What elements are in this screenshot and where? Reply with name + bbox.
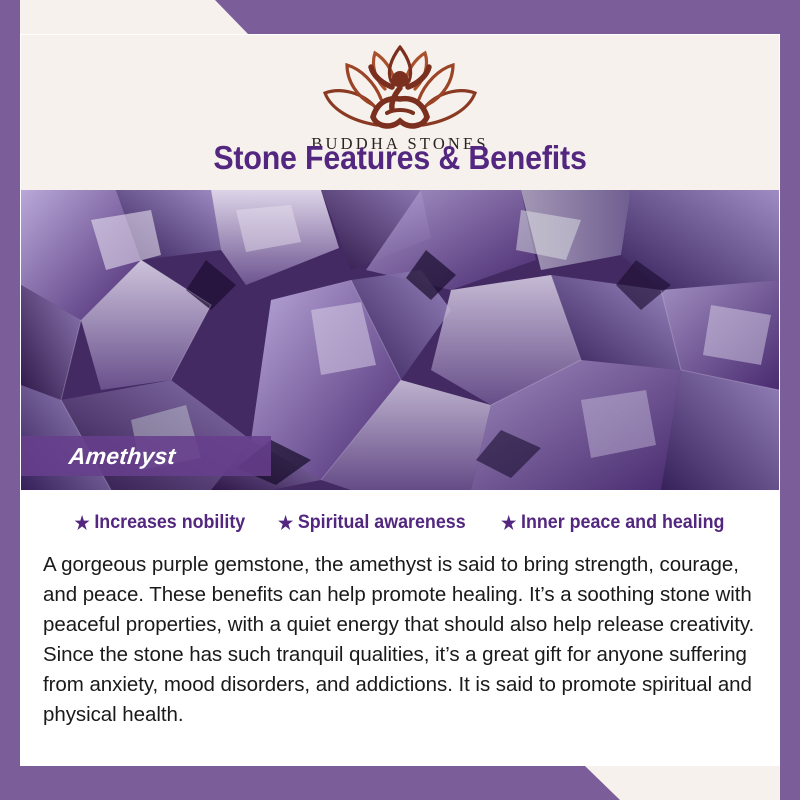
infographic-page: BUDDHA STONES Stone Features & Benefits — [0, 0, 800, 800]
brand-logo: BUDDHA STONES — [311, 41, 488, 154]
benefit-item: ★ Increases nobility — [74, 512, 245, 534]
benefit-label: Spiritual awareness — [298, 512, 466, 534]
hero-image: Amethyst — [21, 190, 779, 490]
frame-band-top — [0, 0, 800, 34]
stone-description: A gorgeous purple gemstone, the amethyst… — [39, 550, 761, 730]
benefit-label: Inner peace and healing — [521, 512, 724, 534]
content-card: BUDDHA STONES Stone Features & Benefits — [21, 35, 779, 765]
star-icon: ★ — [278, 514, 293, 532]
frame-band-bottom — [0, 766, 800, 800]
frame-band-left — [0, 0, 20, 800]
page-title: Stone Features & Benefits — [51, 139, 748, 177]
details-section: ★ Increases nobility ★ Spiritual awarene… — [21, 490, 779, 730]
lotus-meditation-icon — [315, 41, 485, 133]
star-icon: ★ — [74, 514, 89, 532]
benefits-list: ★ Increases nobility ★ Spiritual awarene… — [39, 512, 761, 534]
benefit-item: ★ Inner peace and healing — [501, 512, 724, 534]
header-section: BUDDHA STONES Stone Features & Benefits — [21, 35, 779, 190]
frame-band-right — [780, 0, 800, 800]
benefit-label: Increases nobility — [94, 512, 245, 534]
benefit-item: ★ Spiritual awareness — [278, 512, 466, 534]
stone-name: Amethyst — [68, 443, 177, 470]
star-icon: ★ — [501, 514, 516, 532]
stone-name-banner: Amethyst — [21, 436, 271, 476]
